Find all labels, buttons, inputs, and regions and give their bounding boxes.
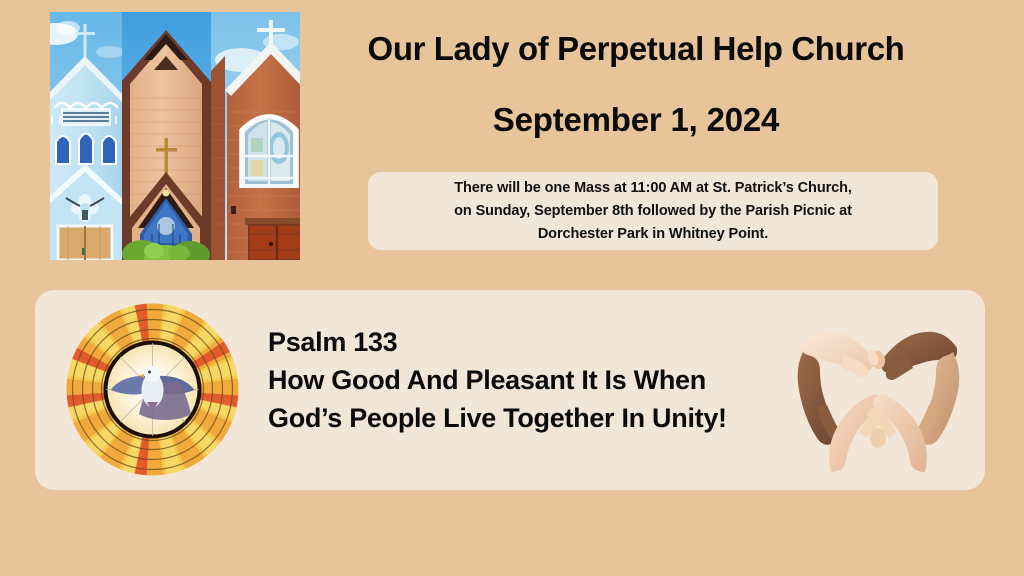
announcement-card: There will be one Mass at 11:00 AM at St…: [368, 172, 938, 250]
psalm-verse-line: God’s People Live Together In Unity!: [268, 399, 808, 437]
announcement-line: on Sunday, September 8th followed by the…: [454, 200, 852, 223]
psalm-text: Psalm 133 How Good And Pleasant It Is Wh…: [268, 323, 808, 437]
psalm-panel: Psalm 133 How Good And Pleasant It Is Wh…: [35, 290, 985, 490]
announcement-line: Dorchester Park in Whitney Point.: [538, 223, 768, 246]
holy-spirit-rose-window: [65, 302, 240, 477]
psalm-verse-line: How Good And Pleasant It Is When: [268, 361, 808, 399]
red-brick-church-photo: [211, 12, 300, 260]
hands-forming-heart: [787, 312, 969, 475]
page-title: Our Lady of Perpetual Help Church: [330, 30, 942, 68]
psalm-reference: Psalm 133: [268, 323, 808, 361]
blue-wooden-church-photo: [50, 12, 122, 260]
newsletter-slide: Our Lady of Perpetual Help Church Septem…: [0, 0, 1024, 576]
announcement-line: There will be one Mass at 11:00 AM at St…: [454, 177, 852, 200]
church-photo-collage: [50, 12, 300, 260]
brick-a-frame-church-photo: [122, 12, 211, 260]
issue-date: September 1, 2024: [330, 101, 942, 139]
